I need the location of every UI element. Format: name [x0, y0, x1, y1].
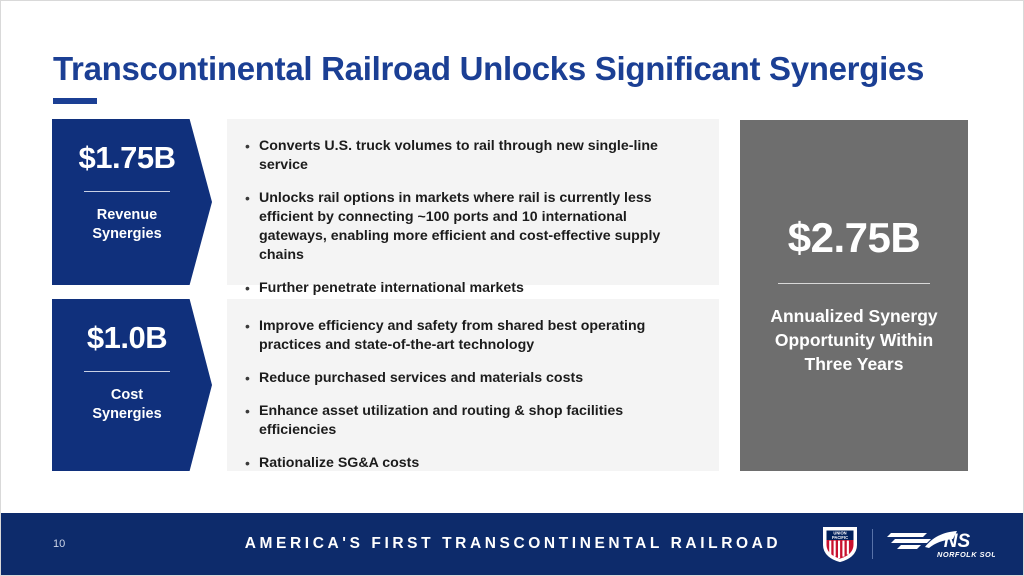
list-item: • Rationalize SG&A costs — [245, 454, 697, 473]
bullet-marker-icon: • — [245, 279, 259, 298]
callout-revenue-synergies: $1.75B Revenue Synergies — [52, 119, 212, 285]
list-item: • Unlocks rail options in markets where … — [245, 189, 697, 265]
callout-label-revenue-line2: Synergies — [92, 226, 161, 242]
norfolk-southern-monogram: NS — [944, 531, 971, 552]
callout-label-revenue: Revenue Synergies — [62, 206, 202, 244]
list-item: • Converts U.S. truck volumes to rail th… — [245, 137, 697, 175]
total-synergy-panel: $2.75B Annualized Synergy Opportunity Wi… — [740, 120, 968, 471]
title-area: Transcontinental Railroad Unlocks Signif… — [53, 49, 983, 104]
bullet-marker-icon: • — [245, 317, 259, 336]
list-item: • Reduce purchased services and material… — [245, 369, 697, 388]
bullet-marker-icon: • — [245, 189, 259, 208]
union-pacific-logo-line2: PACIFIC — [832, 535, 848, 540]
callout-figure-revenue: $1.75B — [62, 141, 202, 175]
bullet-text: Rationalize SG&A costs — [259, 454, 697, 473]
callout-figure-cost: $1.0B — [62, 321, 202, 355]
footer-bar: 10 AMERICA'S FIRST TRANSCONTINENTAL RAIL… — [1, 513, 1024, 575]
bullet-text: Converts U.S. truck volumes to rail thro… — [259, 137, 697, 175]
bullet-text: Reduce purchased services and materials … — [259, 369, 697, 388]
bullet-text: Unlocks rail options in markets where ra… — [259, 189, 697, 265]
norfolk-southern-logo: NS NORFOLK SOUTHERN — [887, 527, 995, 561]
callout-cost-synergies: $1.0B Cost Synergies — [52, 299, 212, 471]
bullet-text: Improve efficiency and safety from share… — [259, 317, 697, 355]
callout-divider-revenue — [84, 191, 170, 192]
page-title: Transcontinental Railroad Unlocks Signif… — [53, 49, 983, 89]
slide: Transcontinental Railroad Unlocks Signif… — [0, 0, 1024, 576]
callout-divider-cost — [84, 371, 170, 372]
list-item: • Improve efficiency and safety from sha… — [245, 317, 697, 355]
norfolk-southern-wordmark: NORFOLK SOUTHERN — [937, 550, 995, 559]
title-accent-rule — [53, 98, 97, 104]
list-item: • Further penetrate international market… — [245, 279, 697, 298]
bullet-marker-icon: • — [245, 369, 259, 388]
footer-logos: UNION PACIFIC NS NORFOLK SOUTHERN — [822, 525, 995, 563]
total-divider — [778, 283, 930, 284]
callout-label-cost-line2: Synergies — [92, 406, 161, 422]
bullets-panel-cost: • Improve efficiency and safety from sha… — [227, 299, 719, 471]
bullet-marker-icon: • — [245, 454, 259, 473]
callout-label-cost-line1: Cost — [111, 387, 143, 403]
union-pacific-logo: UNION PACIFIC — [822, 525, 858, 563]
list-item: • Enhance asset utilization and routing … — [245, 402, 697, 440]
total-figure: $2.75B — [788, 215, 920, 261]
bullet-marker-icon: • — [245, 402, 259, 421]
bullet-marker-icon: • — [245, 137, 259, 156]
total-label: Annualized Synergy Opportunity Within Th… — [754, 304, 954, 376]
bullet-text: Enhance asset utilization and routing & … — [259, 402, 697, 440]
bullet-text: Further penetrate international markets — [259, 279, 697, 298]
logo-divider — [872, 529, 873, 559]
bullets-panel-revenue: • Converts U.S. truck volumes to rail th… — [227, 119, 719, 285]
callout-label-revenue-line1: Revenue — [97, 207, 157, 223]
callout-label-cost: Cost Synergies — [62, 386, 202, 424]
